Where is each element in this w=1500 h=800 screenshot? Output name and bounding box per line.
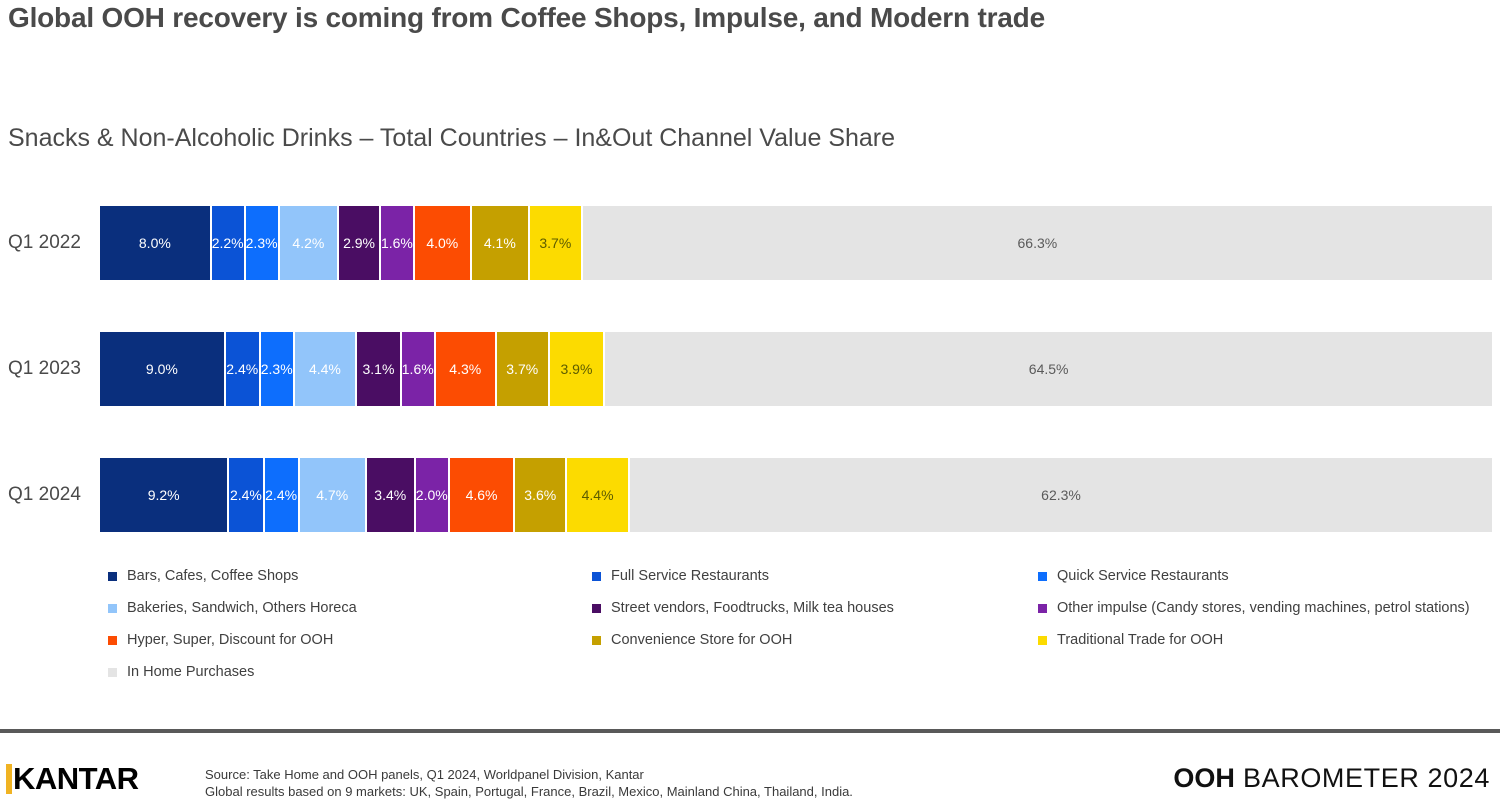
bar-segment-value: 2.3%	[246, 236, 278, 250]
bar-segment[interactable]: 4.3%	[436, 332, 497, 406]
bar-segment-value: 64.5%	[1029, 362, 1069, 376]
bar-segment[interactable]: 4.7%	[300, 458, 367, 532]
bar-segment-value: 2.4%	[226, 362, 258, 376]
bar-segment[interactable]: 2.3%	[246, 206, 280, 280]
legend-label: Convenience Store for OOH	[611, 632, 792, 648]
legend-swatch-icon	[1038, 604, 1047, 613]
bar-segment-value: 9.0%	[146, 362, 178, 376]
kantar-logo: KANTAR	[6, 762, 139, 796]
bar-segment[interactable]: 4.0%	[415, 206, 472, 280]
legend-label: Other impulse (Candy stores, vending mac…	[1057, 600, 1470, 616]
legend-label: Street vendors, Foodtrucks, Milk tea hou…	[611, 600, 894, 616]
bar-row: Q1 20249.2%2.4%2.4%4.7%3.4%2.0%4.6%3.6%4…	[0, 458, 1500, 532]
bar-segment-value: 4.1%	[484, 236, 516, 250]
bar-segment-value: 2.0%	[416, 488, 448, 502]
bar-segment-value: 8.0%	[139, 236, 171, 250]
legend-item[interactable]: Full Service Restaurants	[592, 568, 769, 584]
bar-segment[interactable]: 2.0%	[416, 458, 450, 532]
legend-label: Quick Service Restaurants	[1057, 568, 1229, 584]
legend-item[interactable]: Street vendors, Foodtrucks, Milk tea hou…	[592, 600, 894, 616]
bar-segment[interactable]: 9.0%	[100, 332, 226, 406]
legend-label: Hyper, Super, Discount for OOH	[127, 632, 333, 648]
bar-segment-value: 3.4%	[374, 488, 406, 502]
brand-ooh: OOH	[1173, 763, 1235, 793]
legend-item[interactable]: Bakeries, Sandwich, Others Horeca	[108, 600, 357, 616]
bar-segment[interactable]: 4.1%	[472, 206, 530, 280]
legend-swatch-icon	[1038, 636, 1047, 645]
legend-label: In Home Purchases	[127, 664, 254, 680]
bar-segment[interactable]: 66.3%	[583, 206, 1492, 280]
bar-segment-value: 4.0%	[426, 236, 458, 250]
bar-segment-value: 3.7%	[539, 236, 571, 250]
bar-segment[interactable]: 3.1%	[357, 332, 402, 406]
legend-item[interactable]: Convenience Store for OOH	[592, 632, 792, 648]
bar-segment-value: 4.4%	[582, 488, 614, 502]
bar-segment[interactable]: 62.3%	[630, 458, 1492, 532]
legend-swatch-icon	[592, 572, 601, 581]
bar-segment[interactable]: 2.9%	[339, 206, 381, 280]
source-note: Source: Take Home and OOH panels, Q1 202…	[205, 766, 853, 800]
bar-segment[interactable]: 4.2%	[280, 206, 340, 280]
bar-segment-value: 4.7%	[316, 488, 348, 502]
legend-swatch-icon	[592, 636, 601, 645]
bar-segment-value: 9.2%	[148, 488, 180, 502]
bar-segment-value: 66.3%	[1018, 236, 1058, 250]
legend-swatch-icon	[108, 668, 117, 677]
bar-row: Q1 20239.0%2.4%2.3%4.4%3.1%1.6%4.3%3.7%3…	[0, 332, 1500, 406]
legend-item[interactable]: Hyper, Super, Discount for OOH	[108, 632, 333, 648]
bar-segment-value: 4.6%	[466, 488, 498, 502]
page-subtitle: Snacks & Non-Alcoholic Drinks – Total Co…	[8, 124, 895, 153]
legend-label: Bars, Cafes, Coffee Shops	[127, 568, 298, 584]
source-line-1: Source: Take Home and OOH panels, Q1 202…	[205, 766, 853, 783]
bar-segment-value: 2.4%	[265, 488, 297, 502]
kantar-wordmark: KANTAR	[13, 764, 139, 794]
footer-divider	[0, 729, 1500, 733]
bar-segment-value: 2.9%	[343, 236, 375, 250]
source-line-2: Global results based on 9 markets: UK, S…	[205, 783, 853, 800]
ooh-barometer-brand: OOH BAROMETER 2024	[1173, 762, 1490, 794]
bar-segment-value: 62.3%	[1041, 488, 1081, 502]
bar-segment[interactable]: 4.6%	[450, 458, 516, 532]
legend-item[interactable]: In Home Purchases	[108, 664, 254, 680]
legend-item[interactable]: Bars, Cafes, Coffee Shops	[108, 568, 298, 584]
legend-label: Bakeries, Sandwich, Others Horeca	[127, 600, 357, 616]
legend-swatch-icon	[592, 604, 601, 613]
bar-segment[interactable]: 2.3%	[261, 332, 295, 406]
chart-legend: Bars, Cafes, Coffee ShopsFull Service Re…	[108, 562, 1500, 692]
legend-item[interactable]: Other impulse (Candy stores, vending mac…	[1038, 600, 1470, 616]
bar-segment-value: 2.3%	[261, 362, 293, 376]
legend-label: Full Service Restaurants	[611, 568, 769, 584]
bar-segment[interactable]: 2.2%	[212, 206, 246, 280]
legend-item[interactable]: Quick Service Restaurants	[1038, 568, 1229, 584]
bar-segment[interactable]: 3.6%	[515, 458, 567, 532]
bar-segment[interactable]: 4.4%	[295, 332, 357, 406]
bar-segment[interactable]: 8.0%	[100, 206, 212, 280]
legend-swatch-icon	[108, 636, 117, 645]
bar-row-label: Q1 2024	[8, 458, 94, 532]
bar-segment[interactable]: 2.4%	[226, 332, 261, 406]
legend-swatch-icon	[108, 572, 117, 581]
page-title: Global OOH recovery is coming from Coffe…	[8, 2, 1492, 34]
bar-row-label: Q1 2023	[8, 332, 94, 406]
legend-swatch-icon	[1038, 572, 1047, 581]
bar-track: 9.2%2.4%2.4%4.7%3.4%2.0%4.6%3.6%4.4%62.3…	[100, 458, 1492, 532]
bar-segment-value: 3.7%	[506, 362, 538, 376]
legend-label: Traditional Trade for OOH	[1057, 632, 1223, 648]
bar-segment-value: 1.6%	[402, 362, 434, 376]
bar-segment-value: 2.4%	[230, 488, 262, 502]
bar-segment[interactable]: 3.9%	[550, 332, 606, 406]
bar-row-label: Q1 2022	[8, 206, 94, 280]
bar-segment-value: 2.2%	[212, 236, 244, 250]
bar-segment-value: 3.9%	[561, 362, 593, 376]
bar-track: 9.0%2.4%2.3%4.4%3.1%1.6%4.3%3.7%3.9%64.5…	[100, 332, 1492, 406]
legend-swatch-icon	[108, 604, 117, 613]
stacked-bar-chart: Q1 20228.0%2.2%2.3%4.2%2.9%1.6%4.0%4.1%3…	[0, 188, 1500, 548]
bar-segment-value: 1.6%	[381, 236, 413, 250]
bar-track: 8.0%2.2%2.3%4.2%2.9%1.6%4.0%4.1%3.7%66.3…	[100, 206, 1492, 280]
bar-segment[interactable]: 3.7%	[530, 206, 583, 280]
bar-segment[interactable]: 3.7%	[497, 332, 550, 406]
bar-segment[interactable]: 1.6%	[381, 206, 415, 280]
bar-segment[interactable]: 2.4%	[265, 458, 300, 532]
bar-segment-value: 4.3%	[449, 362, 481, 376]
bar-segment[interactable]: 3.4%	[367, 458, 416, 532]
bar-segment-value: 4.2%	[292, 236, 324, 250]
bar-segment[interactable]: 4.4%	[567, 458, 630, 532]
legend-item[interactable]: Traditional Trade for OOH	[1038, 632, 1223, 648]
bar-segment-value: 4.4%	[309, 362, 341, 376]
bar-row: Q1 20228.0%2.2%2.3%4.2%2.9%1.6%4.0%4.1%3…	[0, 206, 1500, 280]
bar-segment-value: 3.1%	[362, 362, 394, 376]
kantar-accent-bar	[6, 764, 12, 794]
bar-segment[interactable]: 1.6%	[402, 332, 436, 406]
bar-segment-value: 3.6%	[524, 488, 556, 502]
brand-barometer-year: BAROMETER 2024	[1235, 763, 1490, 793]
bar-segment[interactable]: 64.5%	[605, 332, 1492, 406]
bar-segment[interactable]: 2.4%	[229, 458, 264, 532]
bar-segment[interactable]: 9.2%	[100, 458, 229, 532]
